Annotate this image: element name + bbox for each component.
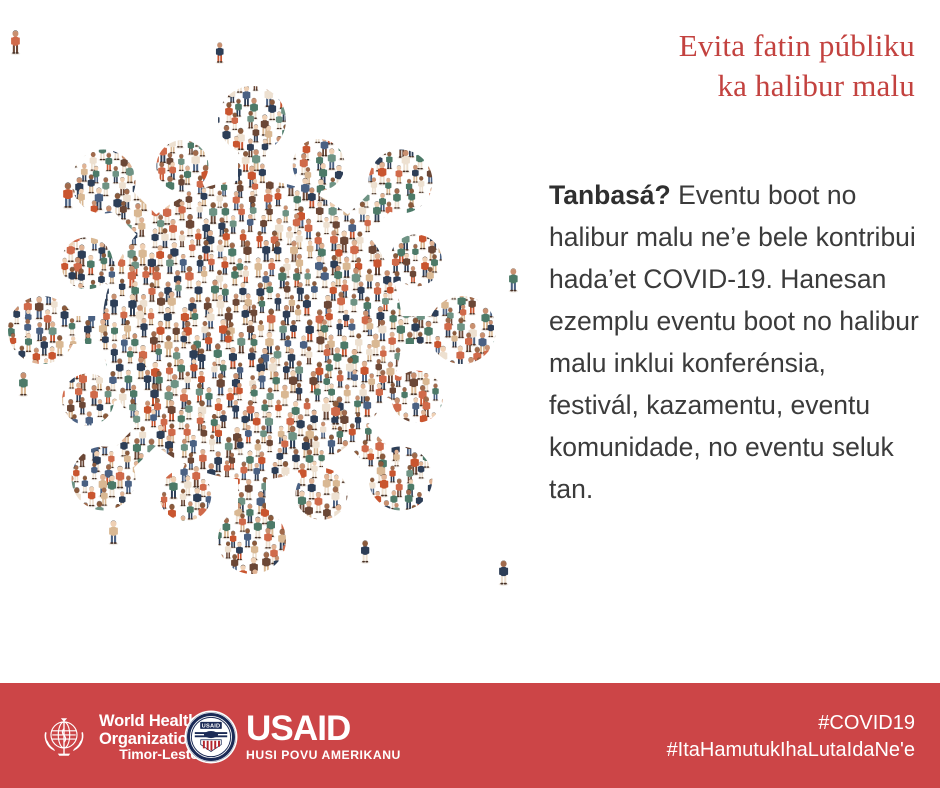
crowd-person — [35, 297, 44, 321]
crowd-person — [51, 296, 58, 314]
crowd-person — [38, 88, 46, 109]
crowd-person — [435, 45, 443, 64]
crowd-person — [96, 399, 103, 418]
crowd-person — [2, 370, 9, 389]
crowd-person — [448, 50, 456, 71]
crowd-person — [369, 478, 376, 496]
crowd-person — [0, 618, 8, 638]
crowd-person — [252, 412, 260, 434]
crowd-person — [29, 256, 37, 276]
crowd-person — [473, 7, 481, 27]
crowd-person — [396, 319, 405, 342]
crowd-person — [150, 621, 159, 644]
crowd-person — [61, 258, 69, 278]
crowd-person — [142, 266, 150, 286]
crowd-person — [112, 166, 119, 184]
crowd-person — [486, 269, 495, 293]
crowd-person — [322, 397, 331, 421]
crowd-person — [131, 489, 140, 511]
crowd-person — [401, 671, 408, 683]
crowd-person — [38, 163, 45, 182]
crowd-person — [264, 528, 272, 550]
crowd-person — [111, 34, 120, 57]
crowd-person — [169, 88, 177, 110]
crowd-person — [457, 370, 465, 390]
crowd-person — [242, 86, 250, 108]
crowd-person — [87, 513, 95, 535]
crowd-person — [3, 269, 11, 289]
crowd-person — [138, 604, 145, 623]
crowd-person — [140, 166, 147, 184]
crowd-person — [30, 126, 37, 144]
crowd-person — [342, 257, 351, 279]
crowd-person — [305, 346, 312, 365]
crowd-person — [68, 372, 75, 390]
crowd-person — [14, 461, 22, 481]
crowd-person — [233, 474, 240, 492]
crowd-person — [419, 124, 426, 142]
crowd-person — [327, 435, 335, 456]
crowd-person — [295, 383, 302, 402]
crowd-person — [207, 620, 214, 639]
crowd-person — [331, 73, 338, 91]
crowd-person — [153, 529, 161, 548]
crowd-person — [79, 7, 87, 27]
crowd-person — [179, 254, 187, 274]
crowd-person — [23, 6, 31, 27]
crowd-person — [63, 85, 70, 104]
crowd-person — [350, 294, 358, 313]
crowd-person — [412, 423, 420, 444]
crowd-person — [483, 163, 491, 183]
crowd-person — [380, 86, 388, 106]
crowd-person — [449, 673, 457, 683]
crowd-person — [307, 478, 316, 501]
crowd-person — [111, 322, 119, 342]
crowd-person — [10, 646, 17, 664]
crowd-person — [184, 166, 192, 186]
crowd-person — [236, 73, 244, 94]
crowd-person — [367, 449, 374, 468]
crowd-person — [186, 34, 195, 58]
crowd-person — [18, 239, 27, 261]
crowd-person — [193, 71, 201, 92]
crowd-person — [444, 474, 451, 493]
crowd-person — [293, 504, 300, 522]
crowd-person — [416, 492, 424, 512]
crowd-person — [311, 281, 318, 300]
crowd-person — [119, 279, 126, 297]
crowd-person — [236, 50, 245, 73]
crowd-person — [477, 385, 486, 408]
crowd-person — [447, 23, 454, 42]
crowd-person — [4, 500, 11, 519]
crowd-person — [476, 489, 485, 511]
crowd-person — [433, 671, 440, 683]
body-lead-question: Tanbasá? — [549, 180, 671, 210]
crowd-person — [304, 269, 311, 287]
crowd-person — [494, 175, 502, 195]
crowd-person — [207, 176, 215, 197]
crowd-person — [423, 527, 432, 549]
crowd-person — [312, 436, 320, 457]
headline-line-2: ka halibur malu — [515, 66, 915, 106]
crowd-person — [20, 32, 28, 53]
crowd-person — [254, 258, 262, 279]
crowd-person — [366, 344, 373, 362]
crowd-person — [422, 448, 430, 469]
crowd-person — [73, 591, 82, 613]
crowd-person — [457, 34, 465, 55]
crowd-person — [283, 670, 292, 683]
crowd-person — [110, 399, 119, 423]
crowd-person — [339, 58, 347, 79]
crowd-person — [460, 514, 468, 534]
crowd-person — [169, 219, 178, 241]
crowd-person — [398, 630, 405, 649]
crowd-person — [124, 505, 132, 524]
crowd-person — [442, 656, 450, 677]
crowd-person — [221, 180, 228, 198]
crowd-person — [178, 154, 185, 172]
crowd-person — [77, 526, 86, 549]
crowd-person — [209, 202, 218, 225]
crowd-person — [476, 644, 483, 663]
crowd-person — [93, 84, 101, 104]
crowd-person — [214, 451, 223, 473]
crowd-person — [412, 398, 420, 418]
crowd-person — [251, 622, 259, 643]
crowd-person — [179, 230, 186, 248]
crowd-person — [18, 346, 25, 365]
crowd-person — [278, 37, 286, 58]
crowd-person — [517, 374, 524, 393]
crowd-person — [33, 427, 42, 449]
crowd-person — [107, 244, 116, 267]
crowd-person — [216, 658, 224, 678]
crowd-person — [403, 307, 410, 325]
crowd-person — [477, 622, 486, 645]
crowd-person — [87, 255, 95, 276]
crowd-person — [323, 373, 330, 392]
crowd-person — [522, 566, 530, 586]
crowd-person — [438, 609, 447, 633]
crowd-person — [244, 578, 251, 596]
crowd-person — [468, 295, 476, 316]
crowd-person — [7, 137, 15, 157]
crowd-person — [492, 437, 499, 455]
crowd-person — [18, 631, 26, 652]
crowd-person — [410, 583, 417, 602]
crowd-person — [532, 218, 540, 241]
crowd-person — [328, 567, 335, 585]
crowd-person — [505, 359, 513, 379]
crowd-person — [456, 346, 465, 368]
crowd-person — [155, 344, 162, 362]
crowd-person — [431, 618, 439, 639]
crowd-person — [214, 474, 223, 497]
crowd-person — [144, 115, 151, 133]
crowd-person — [404, 23, 411, 41]
crowd-person — [371, 72, 378, 91]
crowd-person — [43, 359, 50, 377]
crowd-person — [402, 413, 410, 433]
crowd-person — [287, 174, 296, 197]
crowd-person — [390, 621, 399, 644]
crowd-person — [395, 165, 402, 184]
crowd-person — [50, 555, 58, 577]
poster-headline: Evita fatin públiku ka halibur malu — [515, 26, 915, 106]
crowd-person — [237, 332, 246, 355]
crowd-person — [275, 400, 282, 419]
crowd-person — [18, 59, 27, 82]
crowd-person — [485, 7, 492, 25]
crowd-person — [465, 150, 473, 171]
crowd-person — [119, 673, 127, 683]
crowd-person — [141, 33, 148, 51]
crowd-person — [90, 385, 98, 407]
crowd-person — [222, 284, 230, 303]
crowd-person — [259, 582, 267, 603]
crowd-person — [352, 658, 359, 676]
crowd-person — [517, 475, 524, 493]
crowd-person — [266, 435, 273, 453]
crowd-person — [258, 164, 266, 184]
crowd-person — [91, 232, 99, 252]
crowd-person — [504, 114, 513, 136]
crowd-person — [500, 88, 509, 111]
crowd-person — [450, 283, 457, 301]
hashtag-campaign: #ItaHamutukIhaLutaIdaNe'e — [667, 737, 915, 764]
crowd-person — [334, 7, 342, 29]
crowd-person — [386, 282, 393, 301]
crowd-person — [466, 569, 473, 587]
crowd-person — [397, 31, 405, 52]
crowd-person — [268, 99, 277, 121]
crowd-person — [244, 479, 253, 501]
crowd-person — [209, 434, 216, 452]
crowd-person — [534, 243, 540, 264]
crowd-person — [403, 643, 410, 661]
crowd-person — [34, 34, 42, 55]
crowd-person — [308, 112, 315, 130]
crowd-person — [6, 422, 13, 440]
crowd-person — [169, 7, 177, 27]
crowd-person — [118, 643, 126, 663]
crowd-person — [432, 383, 439, 401]
crowd-person — [354, 395, 361, 414]
crowd-person — [305, 633, 313, 654]
crowd-person — [388, 332, 396, 353]
crowd-person — [187, 453, 194, 471]
crowd-person — [260, 425, 267, 444]
crowd-person — [314, 492, 323, 514]
crowd-person — [439, 346, 448, 370]
crowd-person — [66, 58, 74, 79]
crowd-person — [251, 643, 259, 665]
crowd-person — [394, 348, 402, 368]
crowd-person — [498, 424, 506, 444]
crowd-person — [319, 583, 327, 604]
crowd-person — [200, 632, 209, 655]
crowd-person — [229, 215, 237, 234]
crowd-person — [252, 124, 259, 143]
crowd-person — [96, 33, 105, 56]
crowd-person — [29, 152, 37, 173]
crowd-person — [364, 215, 371, 233]
who-logo-lockup: World Health Organization Timor-Leste — [38, 711, 198, 763]
crowd-person — [365, 269, 373, 290]
crowd-person — [336, 35, 344, 55]
crowd-person — [405, 436, 413, 457]
crowd-person — [189, 240, 196, 259]
crowd-person — [410, 630, 419, 652]
crowd-person — [52, 189, 59, 208]
crowd-person — [495, 592, 502, 610]
crowd-person — [333, 114, 341, 135]
crowd-person — [172, 322, 180, 342]
crowd-person — [446, 514, 455, 536]
crowd-person — [405, 621, 412, 639]
covid-awareness-poster: Evita fatin públiku ka halibur malu Tanb… — [0, 0, 940, 788]
crowd-person — [229, 347, 238, 370]
crowd-person — [401, 230, 410, 252]
crowd-person — [451, 618, 458, 636]
headline-line-1: Evita fatin públiku — [515, 26, 915, 66]
crowd-person — [13, 154, 21, 175]
crowd-person — [87, 174, 95, 194]
crowd-person — [321, 84, 328, 103]
crowd-person — [51, 400, 59, 421]
crowd-person — [385, 178, 392, 196]
crowd-person — [475, 98, 484, 120]
crowd-person — [105, 569, 112, 588]
crowd-person — [228, 583, 235, 601]
crowd-person — [64, 552, 73, 576]
crowd-person — [419, 230, 427, 251]
crowd-person — [93, 7, 101, 27]
crowd-person — [393, 188, 401, 210]
crowd-person — [476, 281, 484, 301]
crowd-person — [477, 47, 484, 66]
crowd-person — [178, 174, 185, 192]
crowd-person — [133, 21, 142, 44]
crowd-person — [426, 346, 434, 366]
crowd-person — [527, 292, 535, 313]
crowd-person — [102, 331, 109, 350]
crowd-person — [495, 205, 502, 223]
crowd-person — [493, 73, 501, 93]
crowd-person — [27, 518, 35, 538]
crowd-person — [19, 527, 27, 546]
crowd-person — [238, 204, 245, 223]
crowd-person — [232, 400, 240, 419]
crowd-person — [257, 320, 264, 338]
crowd-person — [268, 617, 275, 636]
crowd-person — [391, 568, 399, 588]
usaid-logo-lockup: USAID — [184, 710, 401, 764]
crowd-person — [81, 476, 88, 494]
crowd-person — [290, 320, 298, 339]
crowd-person — [66, 603, 74, 622]
crowd-person — [481, 670, 489, 683]
crowd-person — [166, 71, 173, 89]
crowd-person — [531, 657, 538, 675]
crowd-person — [0, 305, 6, 323]
crowd-person — [323, 634, 330, 653]
crowd-person — [439, 9, 446, 27]
crowd-person — [51, 241, 58, 260]
crowd-person — [380, 474, 389, 498]
crowd-person — [0, 413, 5, 433]
body-paragraph: Eventu boot no halibur malu ne’e bele ko… — [549, 180, 919, 504]
crowd-person — [417, 595, 425, 614]
crowd-person — [277, 165, 286, 189]
crowd-person — [389, 310, 397, 331]
crowd-person — [246, 504, 254, 524]
crowd-person — [283, 361, 290, 380]
crowd-person — [523, 361, 531, 381]
crowd-person — [486, 603, 493, 621]
crowd-person — [134, 49, 141, 68]
crowd-person — [318, 529, 326, 550]
crowd-person — [32, 606, 39, 624]
crowd-person — [441, 557, 449, 578]
crowd-person — [193, 673, 202, 683]
crowd-person — [191, 515, 198, 533]
crowd-person — [42, 622, 50, 642]
crowd-person — [477, 591, 485, 612]
crowd-person — [110, 294, 119, 316]
crowd-person — [236, 596, 243, 614]
crowd-person — [0, 256, 5, 275]
crowd-person — [355, 412, 362, 430]
crowd-person — [395, 607, 402, 625]
poster-body-text: Tanbasá? Eventu boot no halibur malu ne’… — [549, 174, 919, 510]
crowd-person — [451, 331, 458, 349]
crowd-person — [282, 205, 289, 223]
crowd-person — [336, 319, 343, 337]
crowd-person — [395, 369, 402, 387]
crowd-person — [388, 539, 397, 562]
crowd-person — [450, 72, 459, 95]
crowd-person — [535, 283, 540, 304]
crowd-person — [295, 305, 302, 323]
crowd-person — [195, 229, 202, 247]
crowd-person — [323, 217, 330, 235]
crowd-person — [100, 434, 109, 456]
crowd-person — [514, 503, 521, 522]
crowd-person — [119, 177, 127, 196]
crowd-person — [165, 20, 172, 39]
crowd-person — [0, 204, 3, 222]
crowd-person — [224, 460, 231, 478]
crowd-person — [226, 488, 233, 507]
crowd-person — [176, 126, 185, 149]
crowd-person — [371, 593, 380, 615]
crowd-person — [403, 253, 411, 273]
crowd-person — [253, 463, 260, 482]
crowd-person — [444, 265, 451, 283]
crowd-person — [495, 21, 503, 41]
crowd-person — [284, 152, 291, 171]
crowd-person — [141, 6, 149, 27]
crowd-person — [0, 23, 6, 44]
crowd-person — [539, 542, 540, 563]
crowd-person — [277, 633, 285, 653]
crowd-person — [395, 479, 403, 499]
crowd-person — [264, 32, 272, 54]
